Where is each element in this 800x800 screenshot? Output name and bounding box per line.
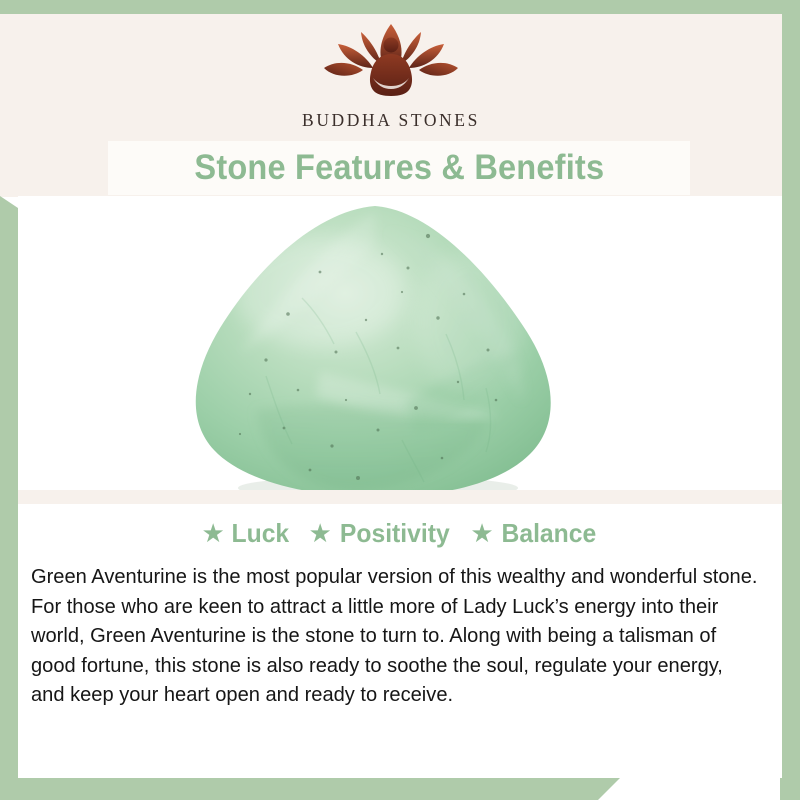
- lotus-meditation-figure-icon: [316, 16, 466, 106]
- frame-top-band: [0, 0, 800, 15]
- star-icon: ★: [470, 520, 493, 546]
- title-band: Stone Features & Benefits: [108, 141, 690, 195]
- frame-left-bar: [0, 196, 18, 800]
- brand-name: BUDDHA STONES: [302, 110, 480, 131]
- infographic-page: BUDDHA STONES Stone Features & Benefits: [0, 0, 800, 800]
- page-title: Stone Features & Benefits: [194, 148, 604, 188]
- benefit-item-luck: ★ Luck: [202, 518, 291, 549]
- green-aventurine-stone-image: [170, 202, 580, 492]
- frame-right-bar: [780, 0, 800, 800]
- benefit-item-balance: ★ Balance: [470, 518, 598, 549]
- frame-bottom-bar: [0, 778, 620, 800]
- hero-photo: Green Aventurine: [18, 196, 782, 492]
- benefit-label-balance: Balance: [501, 518, 596, 549]
- star-icon: ★: [202, 520, 225, 546]
- benefit-item-positivity: ★ Positivity: [309, 518, 453, 549]
- benefit-label-luck: Luck: [231, 518, 289, 549]
- brand-logo: BUDDHA STONES: [0, 16, 782, 131]
- content-section: ★ Luck ★ Positivity ★ Balance Green Aven…: [18, 504, 782, 778]
- benefit-label-positivity: Positivity: [340, 518, 450, 549]
- benefits-row: ★ Luck ★ Positivity ★ Balance: [18, 504, 782, 549]
- description-paragraph: Green Aventurine is the most popular ver…: [31, 563, 759, 711]
- section-separator: [18, 490, 782, 504]
- star-icon: ★: [309, 520, 332, 546]
